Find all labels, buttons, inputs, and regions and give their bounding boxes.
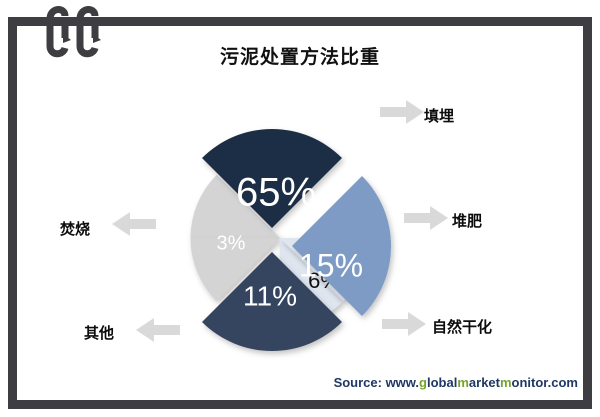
arrow-right-landfill-icon xyxy=(380,100,424,129)
callout-label-drying: 自然干化 xyxy=(432,316,492,337)
pie-slice-label-compost: 15% xyxy=(299,247,363,283)
arrow-left-incineration-icon xyxy=(112,212,156,241)
callout-label-compost: 堆肥 xyxy=(452,210,482,231)
arrow-right-compost-icon xyxy=(404,206,448,235)
source-word-arket: arket xyxy=(469,375,500,390)
source-word-onitor: onitor.com xyxy=(512,375,578,390)
pie-slice-label-landfill: 65% xyxy=(236,171,316,215)
arrow-right-drying-icon xyxy=(382,312,426,341)
source-letter-m1: m xyxy=(457,375,469,390)
source-prefix: Source: www. xyxy=(334,375,419,390)
pie-slice-label-other: 11% xyxy=(243,280,297,311)
source-word-lobal: lobal xyxy=(427,375,457,390)
callout-label-incineration: 焚烧 xyxy=(60,218,90,239)
callout-label-other: 其他 xyxy=(84,322,114,343)
cc-logo-icon xyxy=(41,2,119,60)
callout-label-landfill: 填埋 xyxy=(424,105,454,126)
arrow-left-other-icon xyxy=(136,318,180,347)
source-letter-g: g xyxy=(419,375,427,390)
source-letter-m2: m xyxy=(500,375,512,390)
pie-slice-label-incineration: 3% xyxy=(217,232,246,254)
source-attribution: Source: www.globalmarketmonitor.com xyxy=(0,375,578,390)
